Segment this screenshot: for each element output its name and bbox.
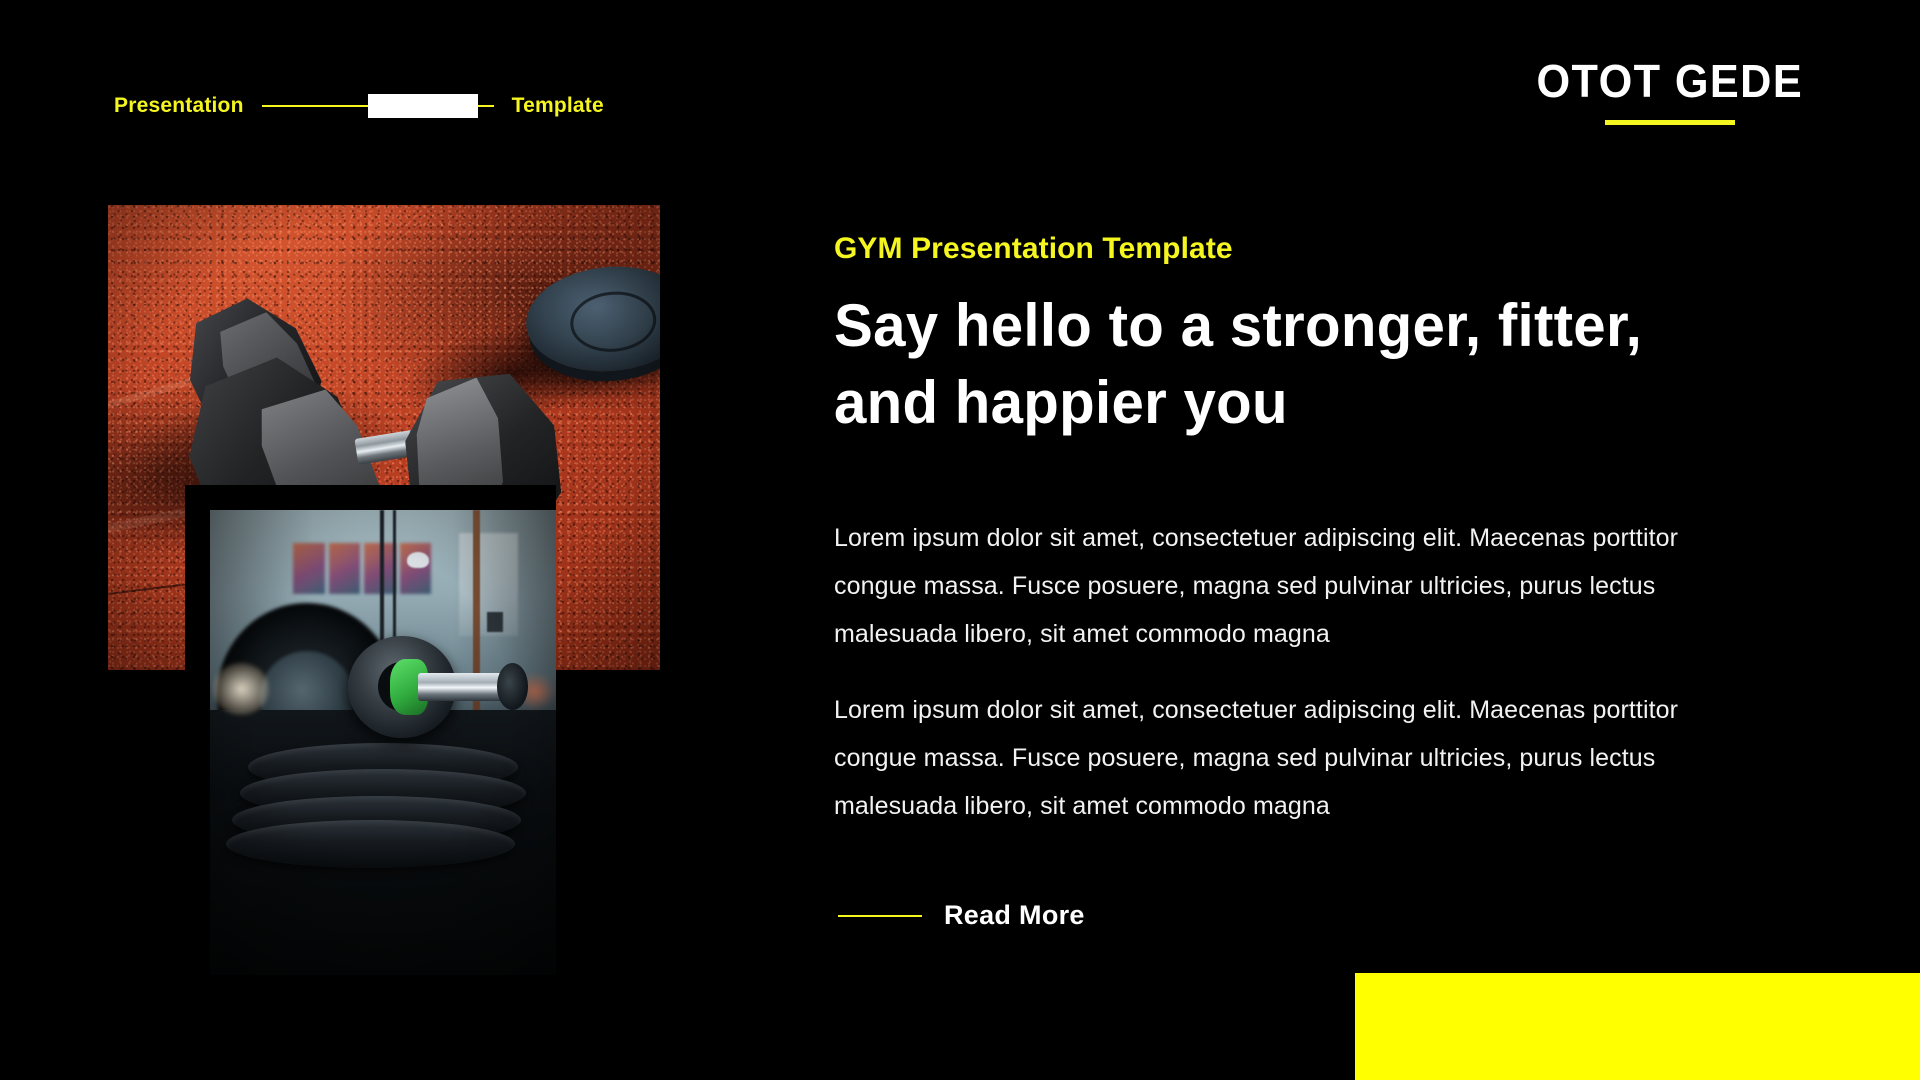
read-more-label: Read More: [944, 900, 1085, 931]
image-collage: [108, 205, 660, 670]
section-kicker: GYM Presentation Template: [834, 232, 1754, 266]
slide-eyebrow: Presentation Template: [114, 88, 604, 124]
content-column: GYM Presentation Template Say hello to a…: [834, 232, 1754, 830]
brand-name-label: OTOT GEDE: [1537, 58, 1804, 104]
brand-underline-bar: [1605, 120, 1735, 125]
eyebrow-right-label: Template: [512, 94, 604, 118]
read-more-link[interactable]: Read More: [838, 900, 1085, 931]
slide-canvas: Presentation Template OTOT GEDE: [0, 0, 1920, 1080]
weights-photo: [210, 510, 556, 975]
eyebrow-left-label: Presentation: [114, 94, 244, 118]
paragraph: Lorem ipsum dolor sit amet, consectetuer…: [834, 514, 1704, 658]
eyebrow-divider: [262, 94, 494, 118]
page-title: Say hello to a stronger, fitter, and hap…: [834, 288, 1726, 442]
brand-logo: OTOT GEDE: [1528, 58, 1812, 125]
eyebrow-white-block: [368, 94, 478, 118]
accent-yellow-block: [1355, 973, 1920, 1080]
read-more-rule: [838, 915, 922, 917]
paragraph: Lorem ipsum dolor sit amet, consectetuer…: [834, 686, 1704, 830]
photo-vignette: [210, 510, 556, 975]
body-copy: Lorem ipsum dolor sit amet, consectetuer…: [834, 514, 1754, 830]
